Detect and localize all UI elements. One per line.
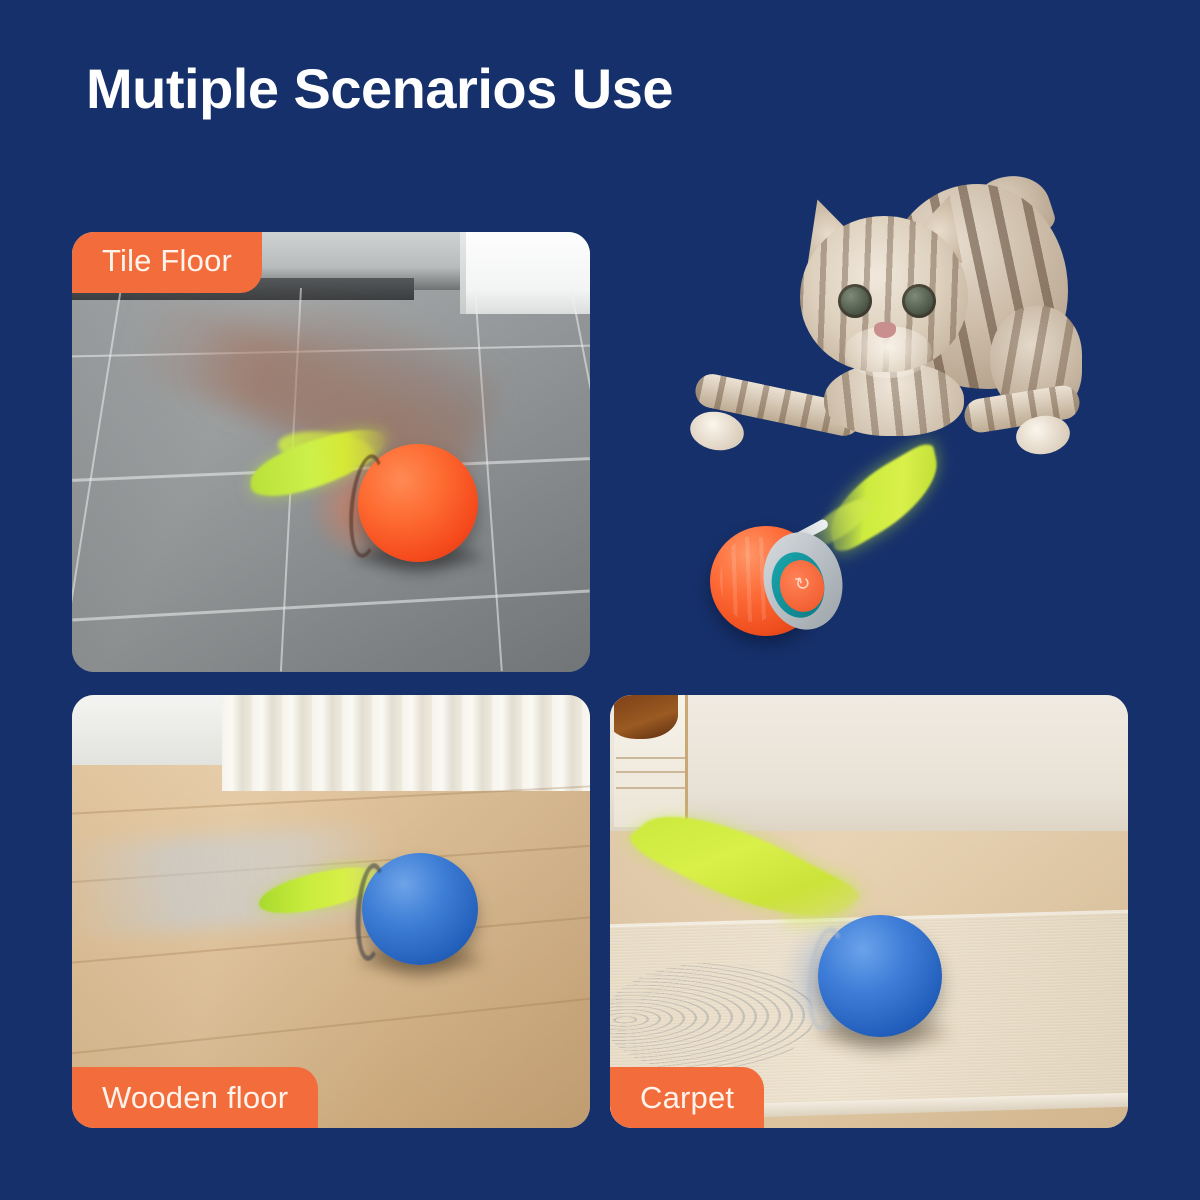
white-curtain bbox=[222, 695, 590, 791]
badge-label: Carpet bbox=[640, 1080, 734, 1116]
product-alt-text: orange interactive rolling cat ball toy … bbox=[706, 466, 707, 467]
badge-label: Wooden floor bbox=[102, 1080, 288, 1116]
cat-alt-text: tabby kitten crouching in pounce pose bbox=[672, 176, 673, 177]
product-feature-page: { "page": { "background_color": "#16306B… bbox=[0, 0, 1200, 1200]
framed-picture bbox=[614, 695, 688, 827]
badge-wooden-floor: Wooden floor bbox=[72, 1067, 318, 1128]
cat-front-left-paw bbox=[687, 408, 747, 455]
scenario-card-carpet[interactable]: Carpet bbox=[610, 695, 1128, 1128]
kitten-illustration: tabby kitten crouching in pounce pose bbox=[672, 176, 1092, 476]
framed-picture-line bbox=[616, 787, 686, 789]
rug-ring-pattern bbox=[610, 960, 816, 1076]
framed-picture-art bbox=[614, 695, 678, 739]
cat-left-eye bbox=[838, 284, 872, 318]
framed-picture-line bbox=[616, 757, 686, 759]
wooden-floor-photo bbox=[72, 695, 590, 1128]
cat-right-eye bbox=[902, 284, 936, 318]
scenario-card-wooden-floor[interactable]: Wooden floor bbox=[72, 695, 590, 1128]
badge-label: Tile Floor bbox=[102, 243, 232, 279]
product-ball-toy: ↻ orange interactive rolling cat ball to… bbox=[706, 466, 946, 656]
carpet-photo bbox=[610, 695, 1128, 1128]
cat-nose bbox=[874, 322, 896, 338]
tile-cabinet bbox=[460, 232, 590, 314]
framed-picture-line bbox=[616, 771, 686, 773]
scenario-card-tile-floor[interactable]: Tile Floor bbox=[72, 232, 590, 672]
badge-carpet: Carpet bbox=[610, 1067, 764, 1128]
badge-tile-floor: Tile Floor bbox=[72, 232, 262, 293]
page-title: Mutiple Scenarios Use bbox=[86, 56, 673, 121]
tile-floor-photo bbox=[72, 232, 590, 672]
